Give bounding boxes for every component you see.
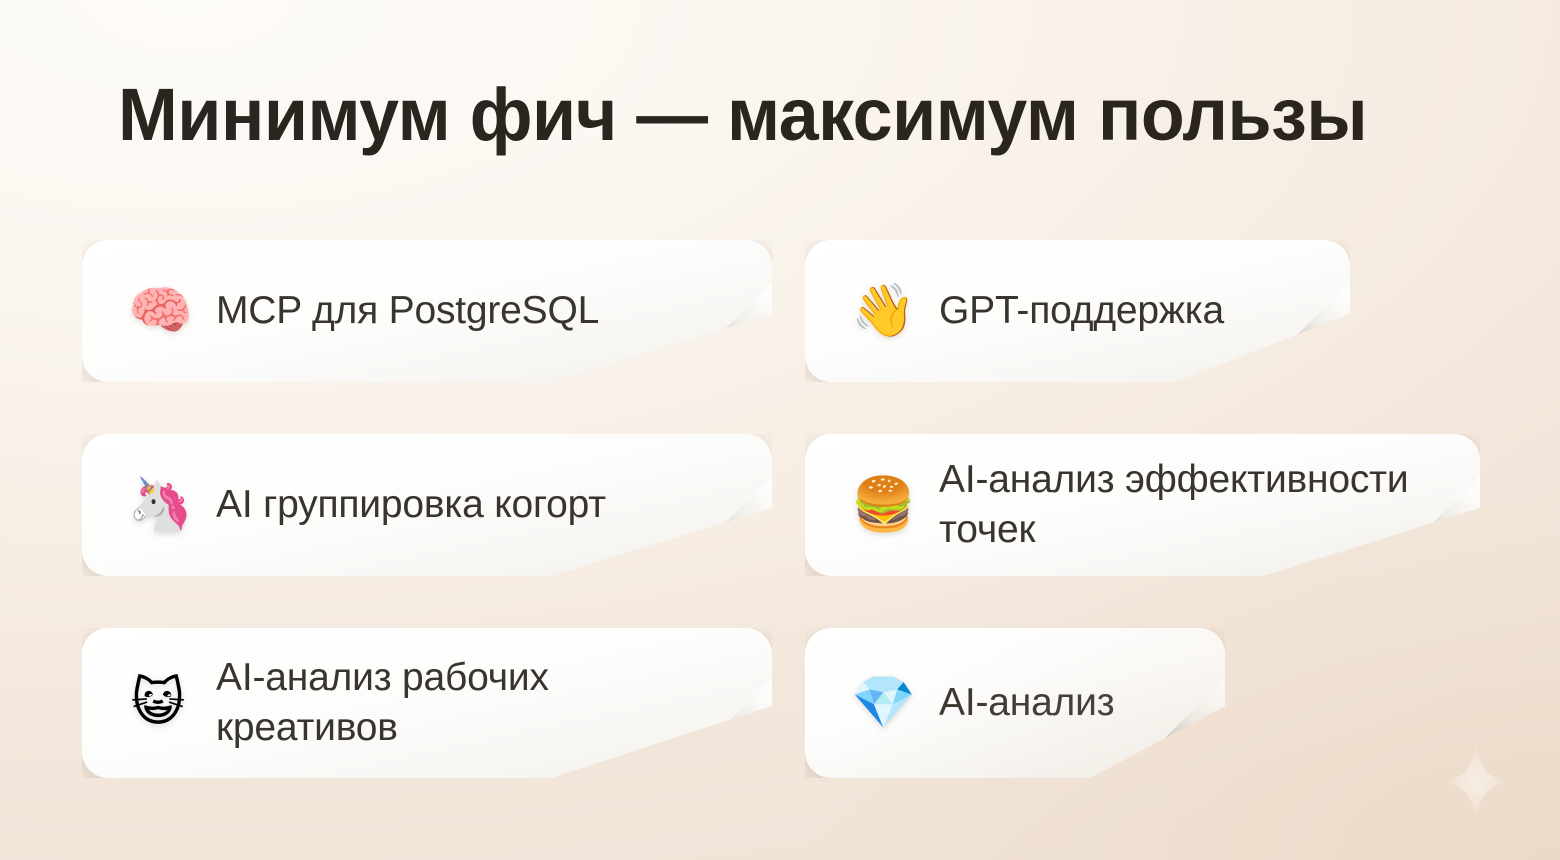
feature-card[interactable]: 💎 AI-анализ (805, 628, 1225, 778)
page-title: Минимум фич — максимум пользы (118, 78, 1437, 152)
feature-card[interactable]: 👋 GPT-поддержка (805, 240, 1350, 382)
gem-stone-emoji: 💎 (851, 677, 911, 729)
feature-card[interactable]: 😺 AI-анализ рабочих креативов (82, 628, 772, 778)
feature-card-grid: 🧠 MCP для PostgreSQL 👋 GPT-поддержка 🦄 A… (0, 240, 1560, 800)
feature-card-content: 🍔 AI-анализ эффективности точек (805, 455, 1480, 555)
feature-card-label: AI-анализ эффективности точек (939, 455, 1434, 555)
feature-card-content: 💎 AI-анализ (805, 677, 1225, 729)
feature-card-label: AI группировка когорт (216, 480, 726, 530)
hamburger-emoji: 🍔 (851, 479, 911, 531)
waving-hand-emoji: 👋 (851, 285, 911, 337)
feature-card-content: 🦄 AI группировка когорт (82, 479, 772, 531)
feature-card-label: MCP для PostgreSQL (216, 286, 726, 336)
slide-canvas: Минимум фич — максимум пользы 🧠 MCP для … (0, 0, 1560, 860)
feature-card[interactable]: 🍔 AI-анализ эффективности точек (805, 434, 1480, 576)
feature-card-label: AI-анализ (939, 678, 1179, 728)
feature-card-label: AI-анализ рабочих креативов (216, 653, 726, 753)
grinning-cat-emoji: 😺 (128, 677, 188, 729)
brain-emoji: 🧠 (128, 285, 188, 337)
feature-card-label: GPT-поддержка (939, 286, 1304, 336)
unicorn-emoji: 🦄 (128, 479, 188, 531)
feature-card-content: 🧠 MCP для PostgreSQL (82, 285, 772, 337)
feature-card[interactable]: 🦄 AI группировка когорт (82, 434, 772, 576)
feature-card-content: 👋 GPT-поддержка (805, 285, 1350, 337)
feature-card[interactable]: 🧠 MCP для PostgreSQL (82, 240, 772, 382)
feature-card-content: 😺 AI-анализ рабочих креативов (82, 653, 772, 753)
